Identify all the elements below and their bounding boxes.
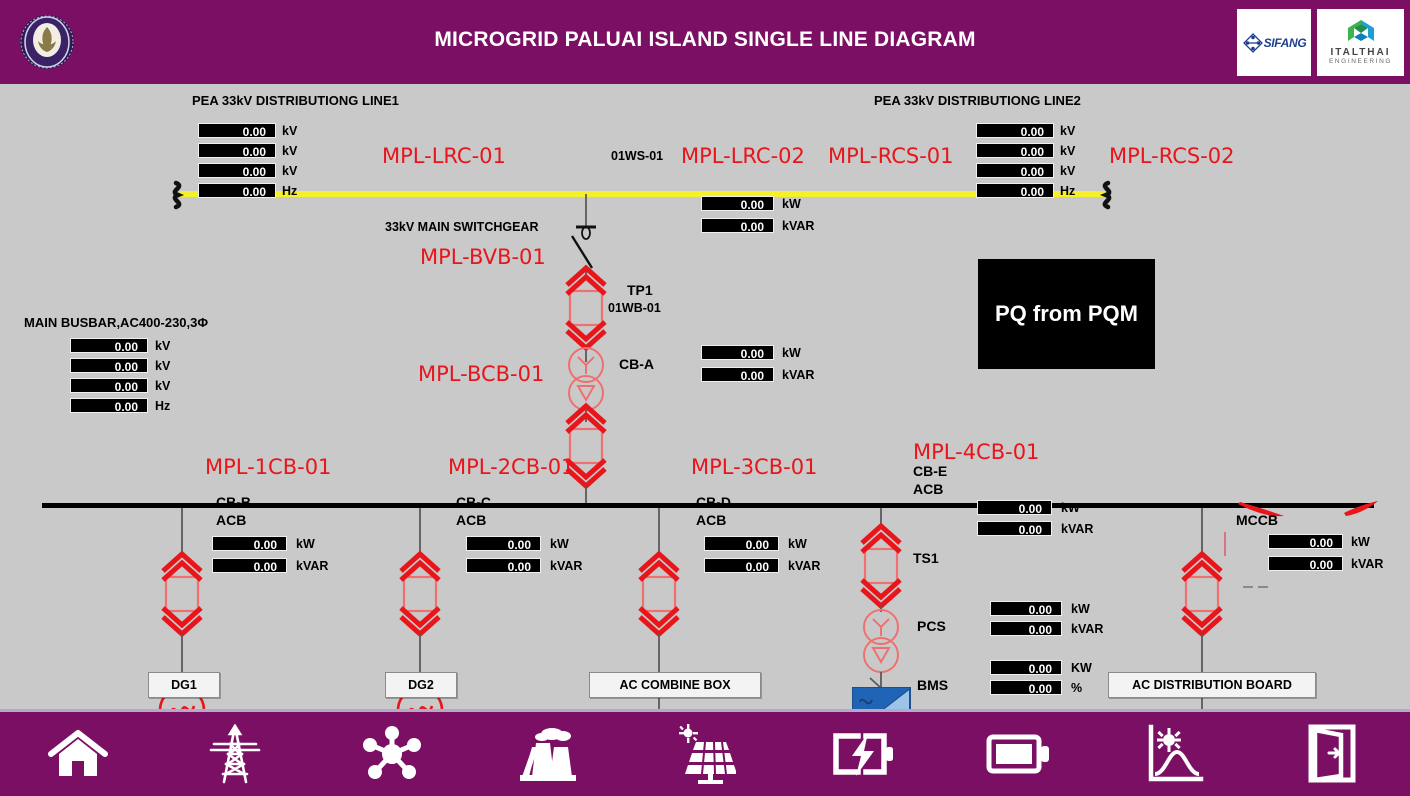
line1-meter-3: 0.00 xyxy=(198,183,276,198)
branch-dg2-unit-0: kW xyxy=(550,537,569,551)
branch-dg2-unit-1: kVAR xyxy=(550,559,582,573)
branch-distribution-meter-0: 0.00 xyxy=(1268,534,1343,549)
device-label-bms: BMS xyxy=(917,677,948,695)
battery-charging-icon xyxy=(828,730,896,778)
line2-meter-2: 0.00 xyxy=(976,163,1054,178)
busbar-unit-3: Hz xyxy=(155,399,170,413)
relay-tag-bvb01[interactable]: MPL-BVB-01 xyxy=(420,245,546,269)
breaker-name: CB-B xyxy=(216,494,251,510)
cba-meter-1: 0.00 xyxy=(701,367,774,382)
relay-tag-lrc01[interactable]: MPL-LRC-01 xyxy=(382,144,506,168)
breaker-name: CB-E xyxy=(913,463,947,479)
nav-solar[interactable] xyxy=(627,712,784,796)
sifang-logo: SIFANG xyxy=(1237,9,1311,76)
busbar-meter-0: 0.00 xyxy=(70,338,148,353)
busbar-unit-0: kV xyxy=(155,339,170,353)
main-busbar-label: MAIN BUSBAR,AC400-230,3Φ xyxy=(24,315,208,331)
branch-bess-unit-0: kW xyxy=(1061,501,1080,515)
home-icon xyxy=(47,728,109,780)
branch-dg1-unit-1: kVAR xyxy=(296,559,328,573)
wb01-meter-1: 0.00 xyxy=(701,218,774,233)
relay-tag-4cb01[interactable]: MPL-4CB-01 xyxy=(913,440,1039,464)
italthai-logo: ITALTHAI ENGINEERING xyxy=(1317,9,1404,76)
line1-unit-3: Hz xyxy=(282,184,297,198)
line1-unit-0: kV xyxy=(282,124,297,138)
branch-distribution-meter-1: 0.00 xyxy=(1268,556,1343,571)
breaker-type: ACB xyxy=(216,512,246,528)
pcs-unit-1: kVAR xyxy=(1071,622,1103,636)
busbar-meter-3: 0.00 xyxy=(70,398,148,413)
line2-unit-0: kV xyxy=(1060,124,1075,138)
cba-meter-0: 0.00 xyxy=(701,345,774,360)
device-label-tp1: TP1 xyxy=(627,282,653,300)
busbar-unit-1: kV xyxy=(155,359,170,373)
line1-unit-1: kV xyxy=(282,144,297,158)
line1-unit-2: kV xyxy=(282,164,297,178)
branch-pv-unit-0: kW xyxy=(788,537,807,551)
nav-transmission[interactable] xyxy=(157,712,314,796)
busbar-meter-1: 0.00 xyxy=(70,358,148,373)
line1-meter-0: 0.00 xyxy=(198,123,276,138)
branch-pv-breaker-label: CB-D ACB xyxy=(696,494,731,529)
branch-dg1-meter-0: 0.00 xyxy=(212,536,287,551)
battery-icon xyxy=(985,732,1051,776)
line2-terminator-icon xyxy=(1105,183,1109,207)
cba-unit-0: kW xyxy=(782,346,801,360)
line2-meter-3: 0.00 xyxy=(976,183,1054,198)
feeder-line1-title: PEA 33kV DISTRIBUTIONG LINE1 xyxy=(192,93,399,109)
device-label-ts1: TS1 xyxy=(913,550,939,568)
nav-network[interactable] xyxy=(313,712,470,796)
wb01-meter-0: 0.00 xyxy=(701,196,774,211)
wb01-unit-1: kVAR xyxy=(782,219,814,233)
branch-dg1-unit-0: kW xyxy=(296,537,315,551)
bms-unit-1: % xyxy=(1071,681,1082,695)
branch-bess-meter-0: 0.00 xyxy=(977,500,1052,515)
nav-battery[interactable] xyxy=(940,712,1097,796)
line2-unit-3: Hz xyxy=(1060,184,1075,198)
power-plant-icon xyxy=(516,725,580,783)
single-line-diagram: PEA 33kV DISTRIBUTIONG LINE1 PEA 33kV DI… xyxy=(0,84,1410,709)
relay-tag-1cb01[interactable]: MPL-1CB-01 xyxy=(205,455,331,479)
relay-tag-2cb01[interactable]: MPL-2CB-01 xyxy=(448,455,574,479)
device-button-dg2[interactable]: DG2 xyxy=(385,672,457,698)
breaker-name: CB-C xyxy=(456,494,491,510)
breaker-type: ACB xyxy=(456,512,486,528)
italthai-mark-icon xyxy=(1344,19,1378,47)
device-label-01ws-01: 01WS-01 xyxy=(611,149,663,165)
italthai-subtitle: ENGINEERING xyxy=(1329,58,1392,66)
breaker-type: ACB xyxy=(696,512,726,528)
exit-door-icon xyxy=(1303,724,1361,784)
sifang-logo-text: SIFANG xyxy=(1264,36,1307,50)
italthai-name: ITALTHAI xyxy=(1330,47,1390,58)
solar-trend-chart-icon xyxy=(1145,724,1205,784)
branch-pv-unit-1: kVAR xyxy=(788,559,820,573)
branch-bess-unit-1: kVAR xyxy=(1061,522,1093,536)
pcs-unit-0: kW xyxy=(1071,602,1090,616)
cba-unit-1: kVAR xyxy=(782,368,814,382)
device-label-pcs: PCS xyxy=(917,618,946,636)
line2-unit-1: kV xyxy=(1060,144,1075,158)
line1-meter-2: 0.00 xyxy=(198,163,276,178)
transmission-tower-icon xyxy=(206,724,264,784)
line1-meter-1: 0.00 xyxy=(198,143,276,158)
line1-terminator-icon xyxy=(175,183,179,207)
nav-trend[interactable] xyxy=(1097,712,1254,796)
relay-tag-rcs01[interactable]: MPL-RCS-01 xyxy=(828,144,954,168)
nav-exit[interactable] xyxy=(1253,712,1410,796)
page-title: MICROGRID PALUAI ISLAND SINGLE LINE DIAG… xyxy=(0,28,1410,52)
sifang-diamond-icon xyxy=(1242,32,1264,54)
bms-meter-1: 0.00 xyxy=(990,680,1062,695)
relay-tag-3cb01[interactable]: MPL-3CB-01 xyxy=(691,455,817,479)
branch-dg2-breaker-label: CB-C ACB xyxy=(456,494,491,529)
main-switchgear-label: 33kV MAIN SWITCHGEAR xyxy=(385,220,539,236)
branch-distribution-unit-1: kVAR xyxy=(1351,557,1383,571)
branch-bess-meter-1: 0.00 xyxy=(977,521,1052,536)
device-button-ac-combine-box[interactable]: AC COMBINE BOX xyxy=(589,672,761,698)
branch-distribution-breaker-label: MCCB xyxy=(1236,512,1278,530)
line2-meter-0: 0.00 xyxy=(976,123,1054,138)
branch-bess-breaker-label: CB-E ACB xyxy=(913,463,947,498)
wb01-unit-0: kW xyxy=(782,197,801,211)
nav-home[interactable] xyxy=(0,712,157,796)
line2-unit-2: kV xyxy=(1060,164,1075,178)
device-label-cb-a: CB-A xyxy=(619,356,654,374)
app-header: MICROGRID PALUAI ISLAND SINGLE LINE DIAG… xyxy=(0,0,1410,84)
bms-meter-0: 0.00 xyxy=(990,660,1062,675)
busbar-meter-2: 0.00 xyxy=(70,378,148,393)
branch-dg2-meter-0: 0.00 xyxy=(466,536,541,551)
network-nodes-icon xyxy=(362,726,422,782)
bms-unit-0: KW xyxy=(1071,661,1092,675)
breaker-name: CB-D xyxy=(696,494,731,510)
device-button-ac-distribution-board[interactable]: AC DISTRIBUTION BOARD xyxy=(1108,672,1316,698)
bottom-navigation-bar xyxy=(0,709,1410,796)
device-button-dg1[interactable]: DG1 xyxy=(148,672,220,698)
nav-generation[interactable] xyxy=(470,712,627,796)
line2-meter-1: 0.00 xyxy=(976,143,1054,158)
pcs-meter-1: 0.00 xyxy=(990,621,1062,636)
pcs-meter-0: 0.00 xyxy=(990,601,1062,616)
feeder-line2-title: PEA 33kV DISTRIBUTIONG LINE2 xyxy=(874,93,1081,109)
branch-pv-meter-1: 0.00 xyxy=(704,558,779,573)
relay-tag-rcs02[interactable]: MPL-RCS-02 xyxy=(1109,144,1235,168)
device-label-01wb-01: 01WB-01 xyxy=(608,301,661,317)
branch-pv-meter-0: 0.00 xyxy=(704,536,779,551)
branch-distribution-unit-0: kW xyxy=(1351,535,1370,549)
branch-dg2-meter-1: 0.00 xyxy=(466,558,541,573)
relay-tag-bcb01[interactable]: MPL-BCB-01 xyxy=(418,362,544,386)
nav-charging[interactable] xyxy=(783,712,940,796)
relay-tag-lrc02[interactable]: MPL-LRC-02 xyxy=(681,144,805,168)
solar-panel-icon xyxy=(674,724,736,784)
breaker-type: ACB xyxy=(913,481,943,497)
branch-dg1-breaker-label: CB-B ACB xyxy=(216,494,251,529)
branch-dg1-meter-1: 0.00 xyxy=(212,558,287,573)
pq-from-pqm-panel[interactable]: PQ from PQM xyxy=(978,259,1155,369)
busbar-unit-2: kV xyxy=(155,379,170,393)
